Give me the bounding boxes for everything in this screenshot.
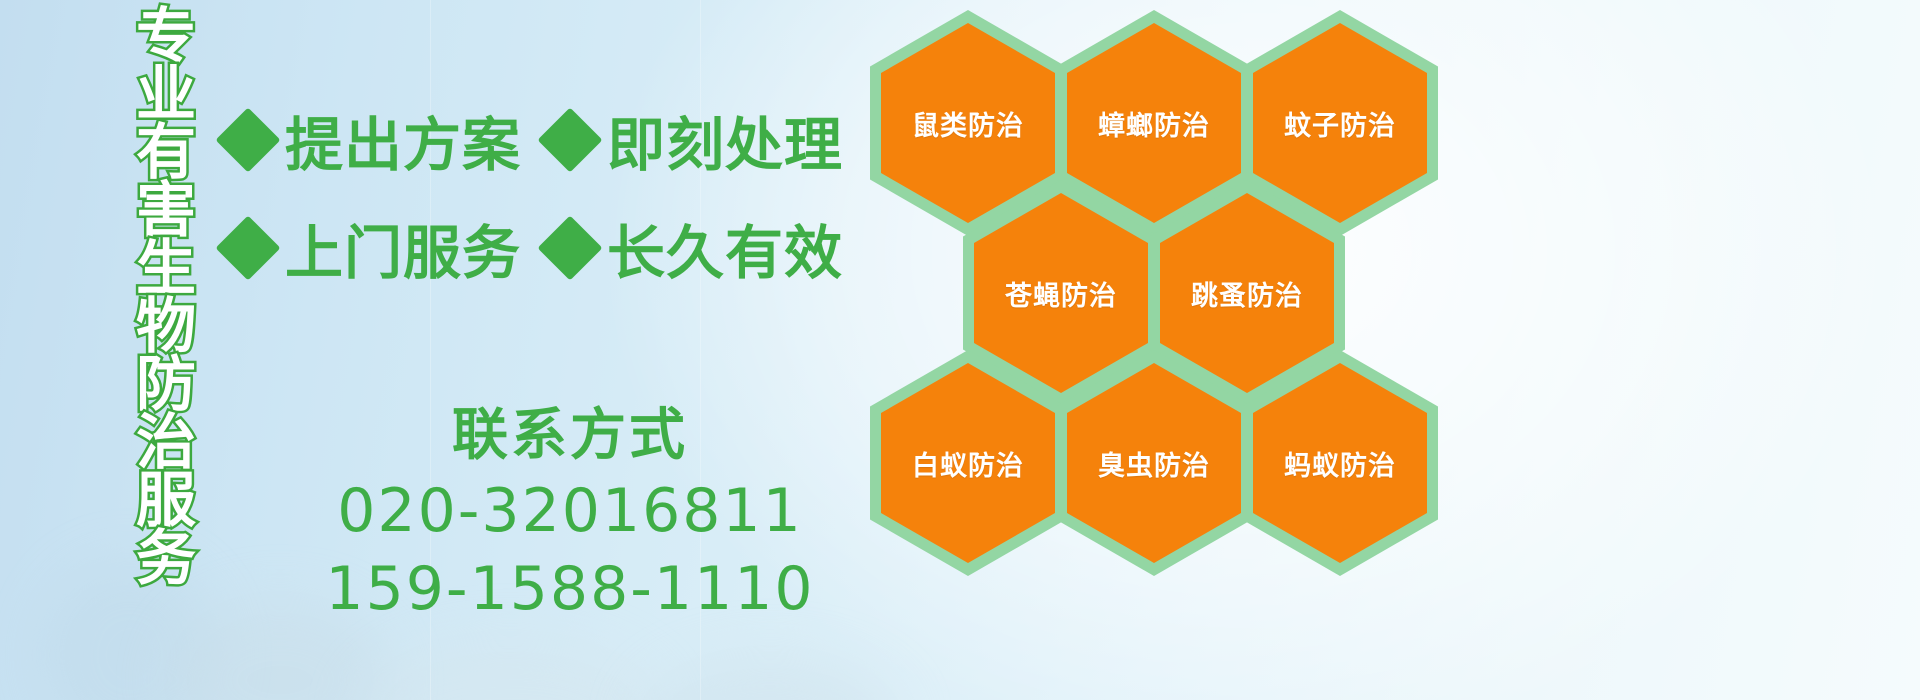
service-hex-ant[interactable]: 蚂蚁防治 (1242, 350, 1438, 576)
feature-label: 即刻处理 (607, 98, 843, 182)
diamond-icon (215, 107, 280, 172)
vertical-title-char: 害 (136, 182, 196, 240)
diamond-icon (537, 107, 602, 172)
feature-row: 上门服务 长久有效 (225, 194, 865, 302)
feature-item: 提出方案 (225, 98, 521, 182)
service-hex-termite[interactable]: 白蚁防治 (870, 350, 1066, 576)
feature-item: 长久有效 (547, 206, 843, 290)
feature-item: 上门服务 (225, 206, 521, 290)
vertical-title-char: 务 (136, 530, 196, 588)
service-hex-bedbug[interactable]: 臭虫防治 (1056, 350, 1252, 576)
vertical-title-char: 物 (136, 298, 196, 356)
diamond-icon (215, 215, 280, 280)
vertical-title-char: 防 (136, 356, 196, 414)
service-hex-grid: 鼠类防治 蟑螂防治 蚊子防治 苍蝇防治 跳蚤防治 (862, 0, 1482, 594)
bokeh-decoration (640, 655, 900, 700)
service-label: 跳蚤防治 (1191, 274, 1303, 313)
service-label: 苍蝇防治 (1005, 274, 1117, 313)
phone-number-landline[interactable]: 020-32016811 (300, 472, 840, 550)
feature-list: 提出方案 即刻处理 上门服务 长久有效 (225, 86, 865, 302)
feature-item: 即刻处理 (547, 98, 843, 182)
diamond-icon (537, 215, 602, 280)
service-label: 白蚁防治 (912, 444, 1024, 483)
service-label: 蚂蚁防治 (1284, 444, 1396, 483)
contact-label: 联系方式 (300, 400, 840, 472)
phone-number-mobile[interactable]: 159-1588-1110 (300, 550, 840, 628)
feature-label: 提出方案 (285, 98, 521, 182)
vertical-title-char: 生 (136, 240, 196, 298)
vertical-title-char: 治 (136, 414, 196, 472)
service-label: 蟑螂防治 (1098, 104, 1210, 143)
promo-banner: 专 业 有 害 生 物 防 治 服 务 提出方案 即刻处理 上门服务 (0, 0, 1920, 700)
service-label: 蚊子防治 (1284, 104, 1396, 143)
feature-label: 长久有效 (607, 206, 843, 290)
feature-label: 上门服务 (285, 206, 521, 290)
vertical-title-char: 有 (136, 124, 196, 182)
vertical-title-char: 业 (136, 66, 196, 124)
vertical-title-char: 服 (136, 472, 196, 530)
contact-block: 联系方式 020-32016811 159-1588-1110 (300, 400, 840, 628)
service-label: 臭虫防治 (1098, 444, 1210, 483)
vertical-title: 专 业 有 害 生 物 防 治 服 务 (118, 8, 214, 564)
vertical-title-char: 专 (136, 8, 196, 66)
service-label: 鼠类防治 (912, 104, 1024, 143)
feature-row: 提出方案 即刻处理 (225, 86, 865, 194)
bokeh-decoration (360, 640, 660, 700)
